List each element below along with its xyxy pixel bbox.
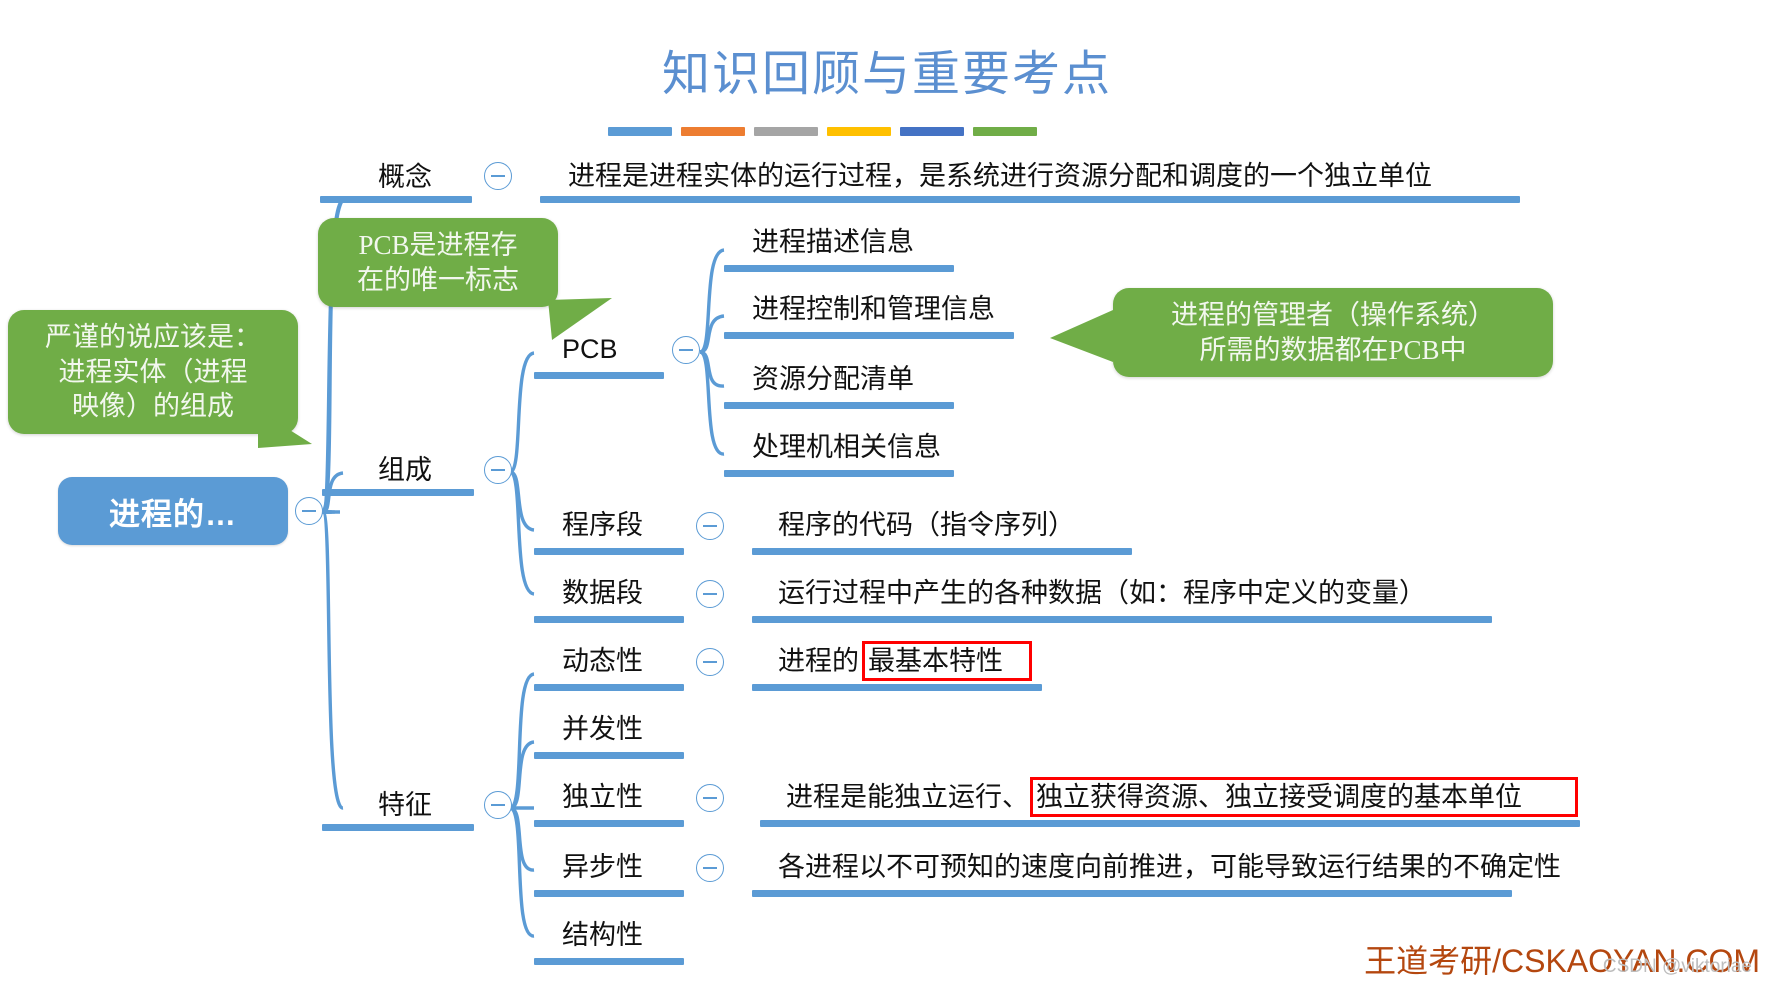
node-label-structural[interactable]: 结构性 [562,922,643,949]
node-underline-pcb-resource-list [724,402,954,409]
detail-data-segment: 运行过程中产生的各种数据（如：程序中定义的变量） [778,580,1426,607]
collapse-icon-concept[interactable] [484,162,512,190]
callout-line: 所需的数据都在PCB中 [1129,333,1537,368]
detail-underline-independent [760,820,1580,827]
node-label-pcb-cpu-info[interactable]: 处理机相关信息 [752,434,941,461]
branch-underline-composition [322,489,474,496]
detail-program-segment: 程序的代码（指令序列） [778,512,1075,539]
accent-bar-green [973,127,1037,136]
detail-underline-program-segment [752,548,1132,555]
node-underline-pcb-desc-info [724,265,954,272]
node-label-data-segment[interactable]: 数据段 [562,580,643,607]
callout-line: 映像）的组成 [24,389,282,424]
collapse-icon-asynchronous[interactable] [696,854,724,882]
accent-bar-yellow [827,127,891,136]
node-underline-data-segment [534,616,684,623]
node-underline-concurrent [534,752,684,759]
node-label-dynamic[interactable]: 动态性 [562,648,643,675]
detail-independent-prefix: 进程是能独立运行、 [786,784,1029,811]
collapse-icon-program-segment[interactable] [696,512,724,540]
accent-bar-strip [608,127,1037,136]
node-underline-dynamic [534,684,684,691]
branch-underline-concept [320,196,472,203]
accent-bar-gray [754,127,818,136]
branch-label-features[interactable]: 特征 [378,792,432,819]
callout-manager-data: 进程的管理者（操作系统） 所需的数据都在PCB中 [1113,288,1553,377]
page-title: 知识回顾与重要考点 [0,34,1774,104]
node-underline-pcb-cpu-info [724,470,954,477]
branch-label-composition[interactable]: 组成 [378,457,432,484]
node-label-program-segment[interactable]: 程序段 [562,512,643,539]
branch-label-concept[interactable]: 概念 [378,164,432,191]
callout-line: 严谨的说应该是： [24,320,282,355]
collapse-icon-dynamic[interactable] [696,648,724,676]
collapse-icon-independent[interactable] [696,784,724,812]
node-underline-structural [534,958,684,965]
accent-bar-light-blue [608,127,672,136]
node-label-pcb-control-info[interactable]: 进程控制和管理信息 [752,296,995,323]
callout-line: 在的唯一标志 [334,263,542,298]
collapse-icon-pcb[interactable] [672,336,700,364]
callout-line: 进程实体（进程 [24,355,282,390]
detail-underline-dynamic [752,684,1042,691]
callout-line: 进程的管理者（操作系统） [1129,298,1537,333]
detail-underline-asynchronous [752,890,1512,897]
watermark-credit: CSDN @viktoriae [1603,956,1752,978]
detail-underline-concept [540,196,1520,203]
accent-bar-dark-blue [900,127,964,136]
callout-process-entity: 严谨的说应该是： 进程实体（进程 映像）的组成 [8,310,298,434]
node-label-concurrent[interactable]: 并发性 [562,716,643,743]
node-label-asynchronous[interactable]: 异步性 [562,854,643,881]
node-underline-pcb [534,372,664,379]
node-label-pcb-desc-info[interactable]: 进程描述信息 [752,229,914,256]
detail-underline-data-segment [752,616,1492,623]
highlight-box-dynamic [862,641,1032,681]
node-label-independent[interactable]: 独立性 [562,784,643,811]
node-label-pcb-resource-list[interactable]: 资源分配清单 [752,366,914,393]
node-underline-independent [534,820,684,827]
node-label-pcb[interactable]: PCB [562,336,618,363]
callout-pcb-unique-mark: PCB是进程存 在的唯一标志 [318,218,558,307]
collapse-icon-composition[interactable] [484,456,512,484]
callout-line: PCB是进程存 [334,228,542,263]
collapse-icon-data-segment[interactable] [696,580,724,608]
collapse-icon-root[interactable] [295,497,323,525]
detail-concept: 进程是进程实体的运行过程，是系统进行资源分配和调度的一个独立单位 [568,163,1432,190]
detail-dynamic-prefix: 进程的 [778,648,859,675]
collapse-icon-features[interactable] [484,791,512,819]
branch-underline-features [322,824,474,831]
highlight-box-independent [1030,777,1578,817]
node-underline-program-segment [534,548,684,555]
detail-asynchronous: 各进程以不可预知的速度向前推进，可能导致运行结果的不确定性 [778,854,1561,881]
node-underline-pcb-control-info [724,332,1014,339]
root-node[interactable]: 进程的… [58,477,288,545]
accent-bar-orange [681,127,745,136]
node-underline-asynchronous [534,890,684,897]
mindmap-canvas: 知识回顾与重要考点 [0,0,1774,990]
root-node-label: 进程的… [109,489,237,534]
